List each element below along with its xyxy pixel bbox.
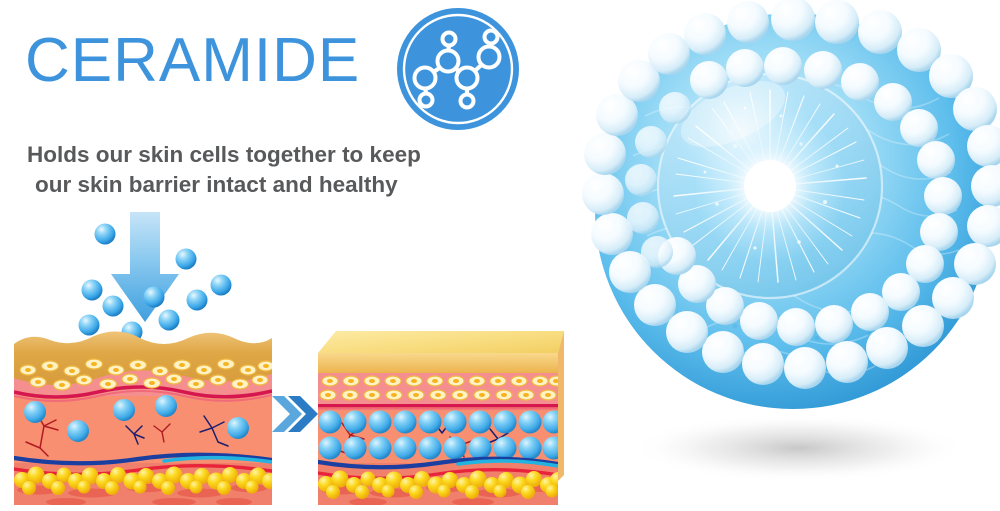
skin-block-after (318, 325, 566, 505)
molecule-badge (393, 8, 523, 130)
subtitle-line-1: Holds our skin cells together to keep (27, 140, 497, 170)
page-title: CERAMIDE (25, 30, 360, 92)
liposome-shadow (631, 414, 967, 482)
skin-block-before (14, 330, 272, 505)
skin-surface-top (318, 331, 564, 353)
stratum-corneum-layer (318, 353, 558, 373)
subtitle-line-2: our skin barrier intact and healthy (27, 170, 497, 200)
infographic-canvas: CERAMIDE (0, 0, 1000, 511)
ceramide-absorption-group (75, 212, 265, 342)
transition-arrow (270, 390, 320, 438)
basal-membrane (318, 404, 558, 407)
liposome-illustration (585, 0, 1000, 511)
subtitle: Holds our skin cells together to keep ou… (27, 140, 497, 199)
